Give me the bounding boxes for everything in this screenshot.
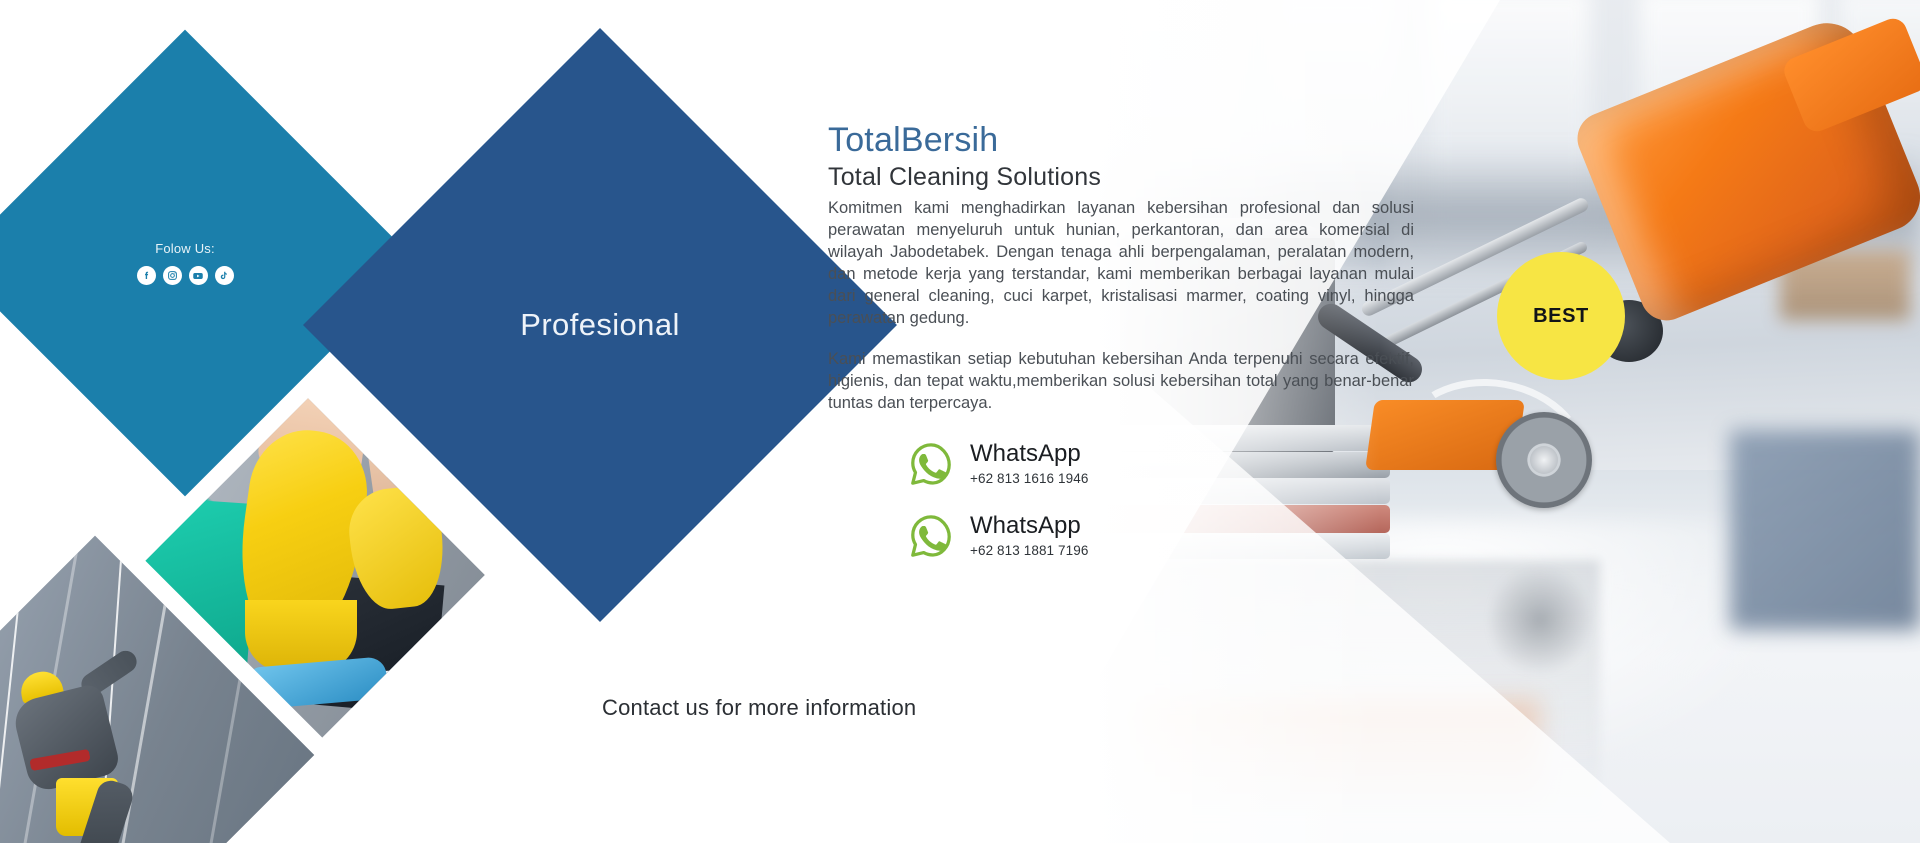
- contact-cta-text: Contact us for more information: [602, 695, 916, 721]
- description-paragraph-2: Kami memastikan setiap kebutuhan kebersi…: [828, 349, 1414, 415]
- machine-wheel-hub: [1530, 446, 1558, 474]
- best-badge-label: BEST: [1533, 305, 1589, 328]
- whatsapp-label-1: WhatsApp: [970, 440, 1081, 467]
- brand-name: TotalBersih: [828, 120, 1414, 160]
- description-paragraph-1: Komitmen kami menghadirkan layanan keber…: [828, 198, 1414, 330]
- social-block: Folow Us:: [20, 98, 350, 428]
- whatsapp-icon: [908, 441, 954, 487]
- tiktok-icon[interactable]: [215, 266, 234, 285]
- brand-tagline: Total Cleaning Solutions: [828, 162, 1414, 192]
- whatsapp-number-1: +62 813 1616 1946: [970, 471, 1088, 486]
- poster-canvas: Folow Us: Profesional: [0, 0, 1920, 843]
- safety-rope-1: [0, 561, 24, 843]
- whatsapp-label-2: WhatsApp: [970, 512, 1081, 539]
- content-column: TotalBersih Total Cleaning Solutions Kom…: [828, 120, 1414, 585]
- whatsapp-list: WhatsApp +62 813 1616 1946 WhatsApp +62 …: [908, 441, 1414, 559]
- facebook-icon[interactable]: [137, 266, 156, 285]
- profesional-label: Profesional: [520, 307, 680, 343]
- background-blue-blur: [1730, 430, 1920, 630]
- navy-diamond-label-wrap: Profesional: [390, 115, 810, 535]
- whatsapp-text-2: WhatsApp +62 813 1881 7196: [970, 513, 1088, 557]
- whatsapp-text-1: WhatsApp +62 813 1616 1946: [970, 441, 1088, 485]
- whatsapp-number-2: +62 813 1881 7196: [970, 543, 1088, 558]
- youtube-icon[interactable]: [189, 266, 208, 285]
- follow-us-label: Folow Us:: [155, 241, 215, 256]
- social-icon-row[interactable]: [137, 266, 234, 285]
- instagram-icon[interactable]: [163, 266, 182, 285]
- best-badge: BEST: [1497, 252, 1625, 380]
- teal-diamond: Folow Us:: [0, 30, 418, 497]
- whatsapp-icon: [908, 513, 954, 559]
- whatsapp-contact-2[interactable]: WhatsApp +62 813 1881 7196: [908, 513, 1414, 559]
- whatsapp-contact-1[interactable]: WhatsApp +62 813 1616 1946: [908, 441, 1414, 487]
- wheel-reflection: [1490, 560, 1590, 680]
